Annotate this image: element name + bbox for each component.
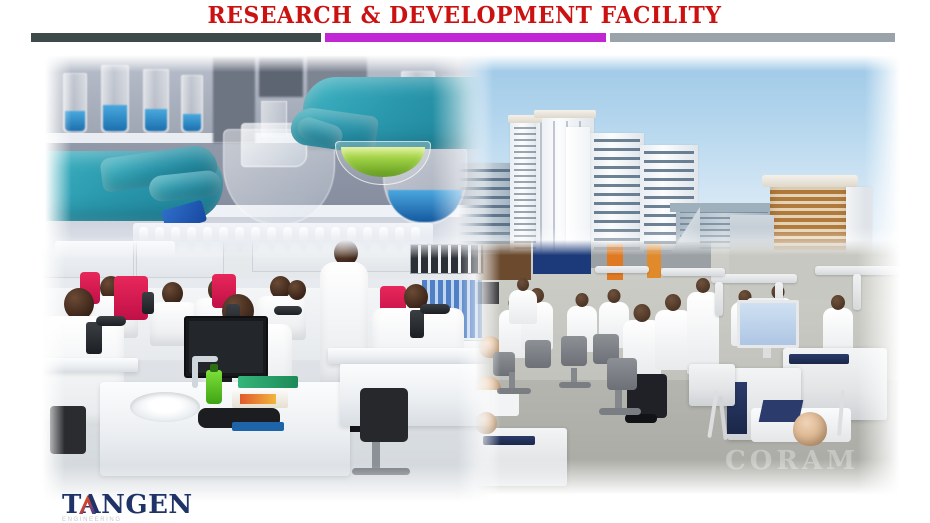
dental-clinic-scene: CORAM (475, 240, 900, 495)
photo-campus-buildings (458, 55, 900, 260)
microscopy-lab-scene (42, 240, 494, 502)
decorative-rule-bars (0, 33, 930, 43)
photo-microscopy-lab (42, 240, 494, 502)
photo-collage: CORAM (40, 55, 900, 505)
rule-bar-dark (31, 33, 321, 42)
rule-bar-light (610, 33, 895, 42)
photo-dental-clinic: CORAM (475, 240, 900, 495)
campus-buildings-scene (458, 55, 900, 260)
photo-lab-glassware (45, 55, 485, 270)
logo-wordmark: TANGEN (62, 492, 193, 518)
tangen-logo: TANGEN ENGINEERING (62, 492, 193, 523)
rule-bar-accent (325, 33, 606, 42)
title-bar: RESEARCH & DEVELOPMENT FACILITY (0, 0, 930, 30)
slide-root: RESEARCH & DEVELOPMENT FACILITY (0, 0, 930, 523)
logo-tagline: ENGINEERING (62, 517, 122, 523)
lab-glassware-scene (45, 55, 485, 270)
page-title: RESEARCH & DEVELOPMENT FACILITY (208, 4, 722, 27)
